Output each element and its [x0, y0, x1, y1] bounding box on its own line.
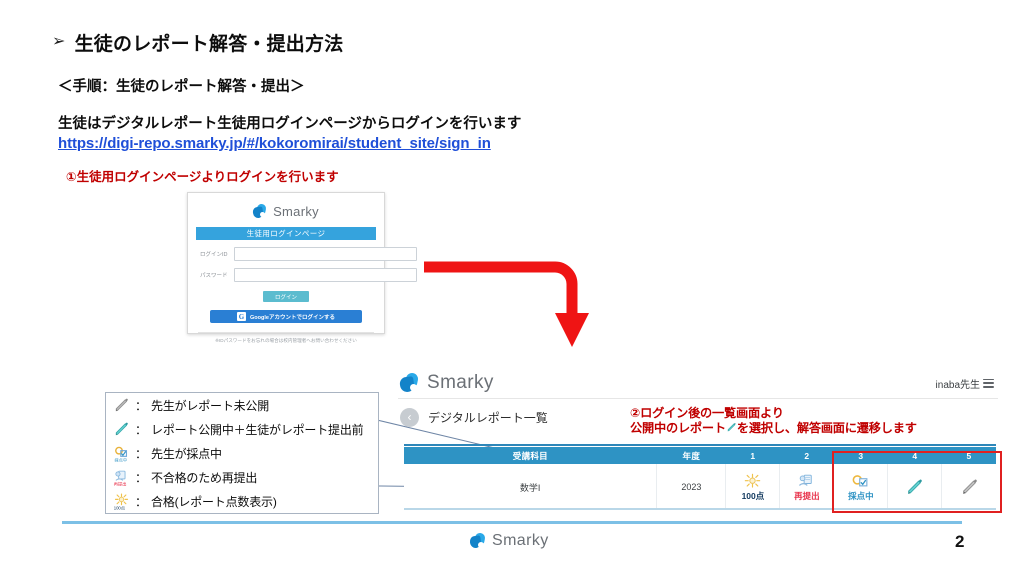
- cell-status-label: 再提出: [794, 491, 820, 501]
- pencil-teal-icon: [113, 421, 130, 438]
- back-arrow-icon[interactable]: ‹: [400, 408, 419, 427]
- user-menu[interactable]: inaba先生: [936, 376, 998, 391]
- step-2-annotation-line1: ②ログイン後の一覧画面より: [630, 406, 917, 421]
- google-signin-button[interactable]: G Googleアカウントでログインする: [210, 310, 362, 323]
- legend-item: 100点 ： 合格(レポート点数表示): [106, 489, 378, 513]
- student-login-screenshot: Smarky 生徒用ログインページ ログインID パスワード ログイン G Go…: [187, 192, 385, 334]
- legend-label: 合格(レポート点数表示): [151, 493, 277, 510]
- report-columns-highlight: [832, 451, 1002, 513]
- smarky-logo-icon: [470, 533, 487, 550]
- legend-item: 採点中 ： 先生が採点中: [106, 441, 378, 465]
- app-brand-name: Smarky: [427, 372, 494, 394]
- footer-divider: [62, 521, 962, 524]
- login-card-footer-note: ※IDパスワードをお忘れの場合は校内管理者へお問い合わせください: [188, 338, 384, 344]
- table-top-rule: [404, 444, 996, 446]
- grading-icon: 採点中: [113, 445, 130, 462]
- svg-text:100点: 100点: [114, 505, 126, 510]
- step-2-annotation-line2: 公開中のレポートを選択し、解答画面に遷移します: [630, 421, 917, 436]
- report-list-screenshot: Smarky inaba先生 ‹ デジタルレポート一覧 ②ログイン後の一覧画面よ…: [398, 368, 998, 520]
- user-name-label: inaba先生: [936, 376, 980, 391]
- smarky-logo-icon: [400, 373, 421, 394]
- icon-legend-box: ： 先生がレポート未公開 ： レポート公開中＋生徒がレポート提出前 採点中 ： …: [105, 392, 379, 514]
- login-id-input[interactable]: [234, 247, 417, 261]
- page-title-text: 生徒のレポート解答・提出方法: [75, 29, 344, 56]
- login-button[interactable]: ログイン: [263, 291, 309, 302]
- login-card-header-bar: 生徒用ログインページ: [196, 227, 376, 240]
- login-card-divider: [198, 332, 374, 333]
- smarky-logo-icon: [253, 204, 268, 219]
- pencil-gray-icon: [113, 397, 130, 414]
- bullet-marker-icon: ➢: [52, 34, 66, 50]
- cell-subject: 数学I: [404, 464, 657, 510]
- legend-separator: ：: [135, 397, 147, 414]
- password-label: パスワード: [200, 271, 228, 279]
- page-subtitle: デジタルレポート一覧: [428, 409, 548, 426]
- login-card-logo: Smarky: [188, 201, 384, 221]
- column-header-subject: 受講科目: [404, 447, 657, 464]
- cell-report-1[interactable]: 100点: [726, 464, 780, 510]
- section-subheading: ＜手順：生徒のレポート解答・提出＞: [58, 75, 305, 96]
- step-1-annotation: ①生徒用ログインページよりログインを行います: [66, 166, 339, 185]
- footer-logo: Smarky: [470, 532, 549, 550]
- passed-icon: [743, 473, 762, 490]
- legend-label: 先生が採点中: [151, 445, 222, 462]
- hamburger-icon[interactable]: [983, 379, 994, 388]
- column-header-1: 1: [726, 447, 780, 464]
- passed-icon: 100点: [113, 493, 130, 510]
- password-input[interactable]: [234, 268, 417, 282]
- cell-report-2[interactable]: 再提出: [780, 464, 834, 510]
- step-2-annotation: ②ログイン後の一覧画面より 公開中のレポートを選択し、解答画面に遷移します: [630, 406, 917, 436]
- legend-item: ： 先生がレポート未公開: [106, 393, 378, 417]
- legend-label: 先生がレポート未公開: [151, 397, 269, 414]
- legend-separator: ：: [135, 493, 147, 510]
- legend-item: 再提出 ： 不合格のため再提出: [106, 465, 378, 489]
- resubmit-icon: 再提出: [113, 469, 130, 486]
- legend-separator: ：: [135, 421, 147, 438]
- page-title: ➢ 生徒のレポート解答・提出方法: [52, 29, 343, 56]
- flow-arrow-icon: [424, 255, 594, 350]
- cell-year: 2023: [657, 464, 726, 510]
- legend-item: ： レポート公開中＋生徒がレポート提出前: [106, 417, 378, 441]
- page-number: 2: [955, 532, 964, 552]
- svg-text:採点中: 採点中: [114, 456, 127, 462]
- app-logo: Smarky: [398, 372, 494, 394]
- login-id-field-row: ログインID: [200, 247, 372, 261]
- pencil-teal-icon: [726, 422, 737, 433]
- google-signin-label: Googleアカウントでログインする: [250, 313, 335, 321]
- column-header-year: 年度: [657, 447, 726, 464]
- footer-brand-name: Smarky: [492, 532, 549, 550]
- step-2-annotation-line2-after: を選択し、解答画面に遷移します: [737, 421, 917, 435]
- column-header-2: 2: [780, 447, 834, 464]
- login-card-brand: Smarky: [273, 204, 319, 219]
- svg-text:再提出: 再提出: [114, 480, 127, 486]
- cell-status-label: 100点: [742, 491, 765, 501]
- legend-separator: ：: [135, 469, 147, 486]
- resubmit-icon: [797, 473, 816, 490]
- login-page-link[interactable]: https://digi-repo.smarky.jp/#/kokoromira…: [58, 135, 491, 152]
- login-id-label: ログインID: [200, 250, 228, 258]
- app-header: Smarky inaba先生: [398, 368, 998, 399]
- legend-label: レポート公開中＋生徒がレポート提出前: [151, 421, 363, 438]
- legend-label: 不合格のため再提出: [151, 469, 257, 486]
- step-2-annotation-line2-before: 公開中のレポート: [630, 421, 726, 435]
- google-g-icon: G: [237, 312, 246, 321]
- password-field-row: パスワード: [200, 268, 372, 282]
- lead-instruction-text: 生徒はデジタルレポート生徒用ログインページからログインを行います: [58, 112, 521, 133]
- legend-separator: ：: [135, 445, 147, 462]
- page-subheader: ‹ デジタルレポート一覧: [398, 400, 548, 434]
